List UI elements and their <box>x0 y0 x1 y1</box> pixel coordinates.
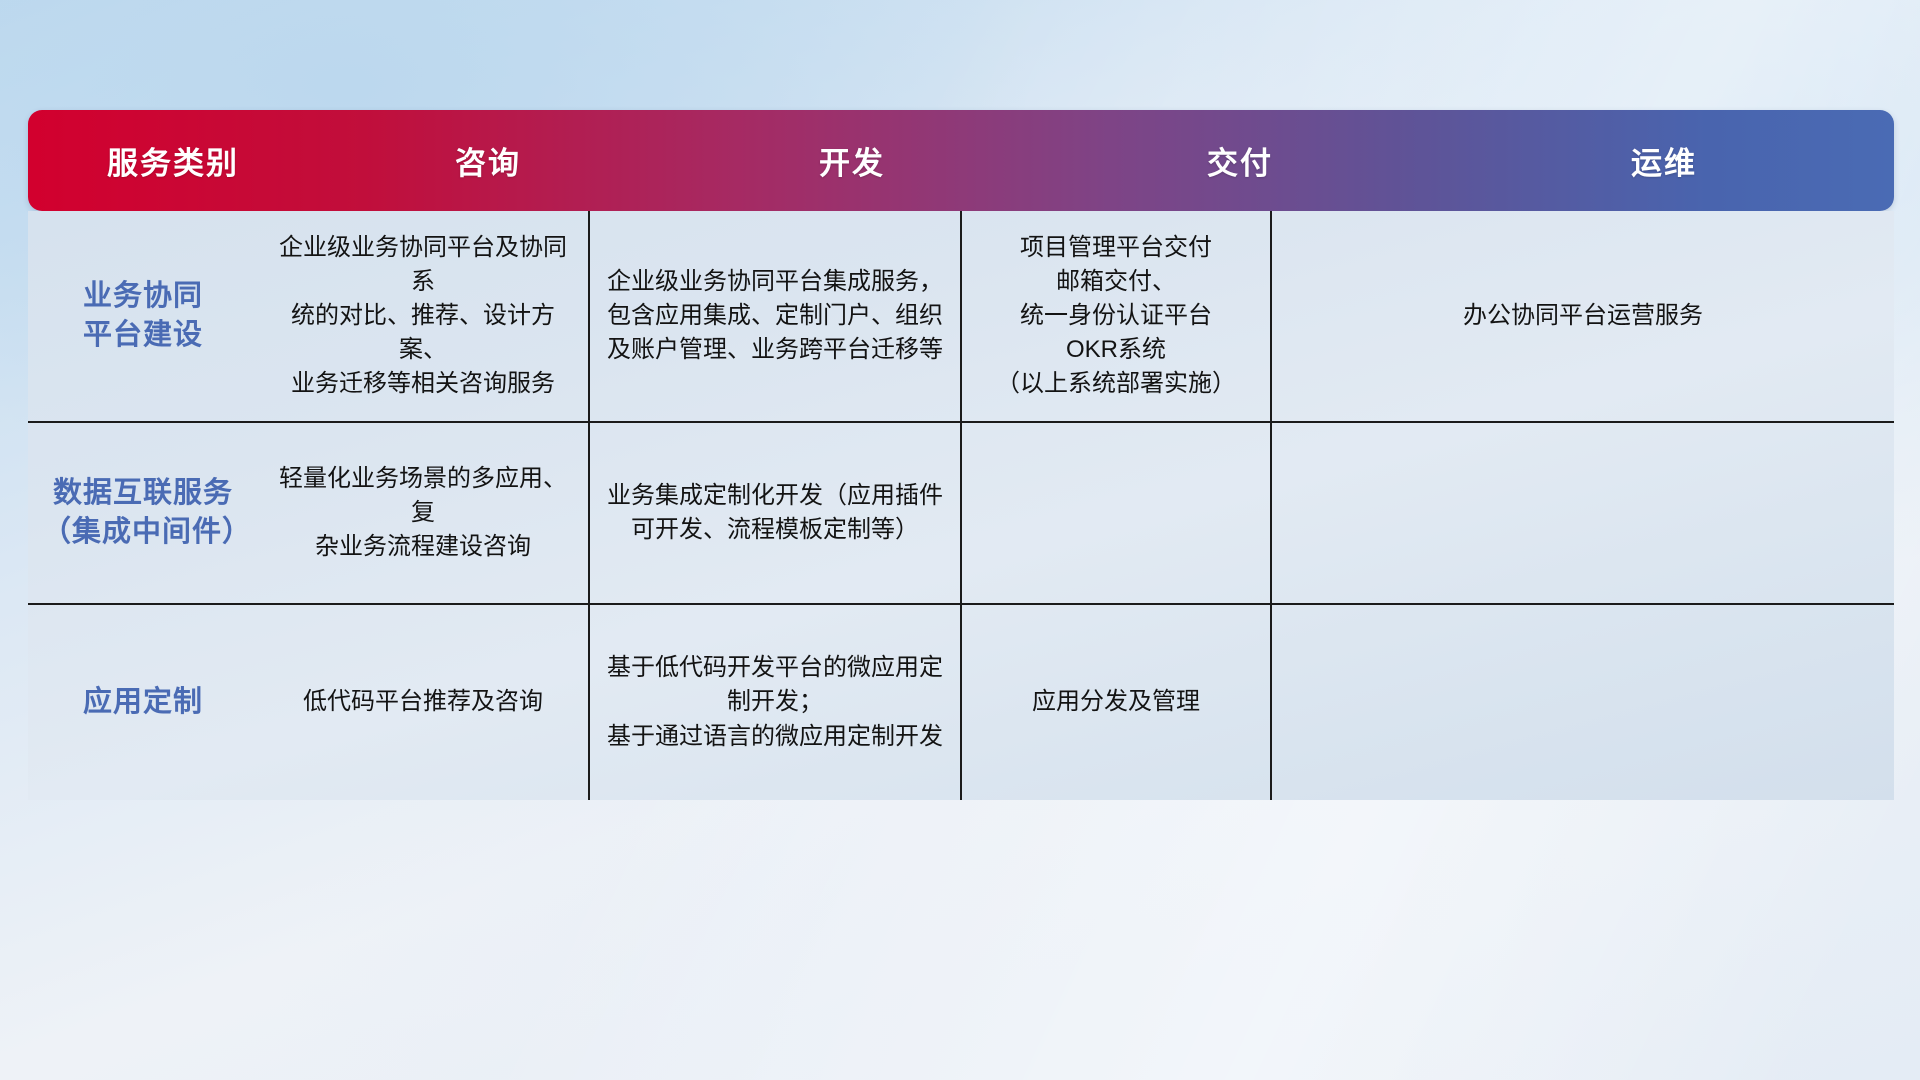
row-label-cell: 数据互联服务 （集成中间件） <box>28 423 258 603</box>
table-row: 业务协同 平台建设 企业级业务协同平台及协同系 统的对比、推荐、设计方案、 业务… <box>28 211 1894 421</box>
row-label-cell: 业务协同 平台建设 <box>28 211 258 421</box>
cell-delivery: 项目管理平台交付 邮箱交付、 统一身份认证平台 OKR系统 （以上系统部署实施） <box>960 211 1270 421</box>
table-row: 应用定制 低代码平台推荐及咨询 基于低代码开发平台的微应用定 制开发； 基于通过… <box>28 603 1894 800</box>
cell-consulting: 企业级业务协同平台及协同系 统的对比、推荐、设计方案、 业务迁移等相关咨询服务 <box>258 211 588 421</box>
table-header-cell-service-category: 服务类别 <box>28 142 318 179</box>
table-header-cell-consulting: 咨询 <box>318 142 658 179</box>
cell-development: 业务集成定制化开发（应用插件 可开发、流程模板定制等） <box>588 423 960 603</box>
service-matrix-table: 服务类别 咨询 开发 交付 运维 业务协同 平台建设 企业级业务协同平台及协同系… <box>28 110 1894 950</box>
cell-consulting: 低代码平台推荐及咨询 <box>258 605 588 800</box>
table-header-cell-delivery: 交付 <box>1046 142 1434 179</box>
table-header-cell-operations: 运维 <box>1434 142 1894 179</box>
row-label-text: 数据互联服务 （集成中间件） <box>42 474 244 552</box>
cell-consulting: 轻量化业务场景的多应用、复 杂业务流程建设咨询 <box>258 423 588 603</box>
cell-development: 基于低代码开发平台的微应用定 制开发； 基于通过语言的微应用定制开发 <box>588 605 960 800</box>
cell-operations <box>1270 423 1894 603</box>
cell-development: 企业级业务协同平台集成服务， 包含应用集成、定制门户、组织 及账户管理、业务跨平… <box>588 211 960 421</box>
row-label-text: 应用定制 <box>83 683 203 722</box>
table-header-cell-development: 开发 <box>658 142 1046 179</box>
cell-delivery <box>960 423 1270 603</box>
row-label-text: 业务协同 平台建设 <box>83 277 203 355</box>
cell-operations <box>1270 605 1894 800</box>
table-body: 业务协同 平台建设 企业级业务协同平台及协同系 统的对比、推荐、设计方案、 业务… <box>28 211 1894 800</box>
table-row: 数据互联服务 （集成中间件） 轻量化业务场景的多应用、复 杂业务流程建设咨询 业… <box>28 421 1894 603</box>
cell-delivery: 应用分发及管理 <box>960 605 1270 800</box>
row-label-cell: 应用定制 <box>28 605 258 800</box>
cell-operations: 办公协同平台运营服务 <box>1270 211 1894 421</box>
table-header-row: 服务类别 咨询 开发 交付 运维 <box>28 110 1894 211</box>
